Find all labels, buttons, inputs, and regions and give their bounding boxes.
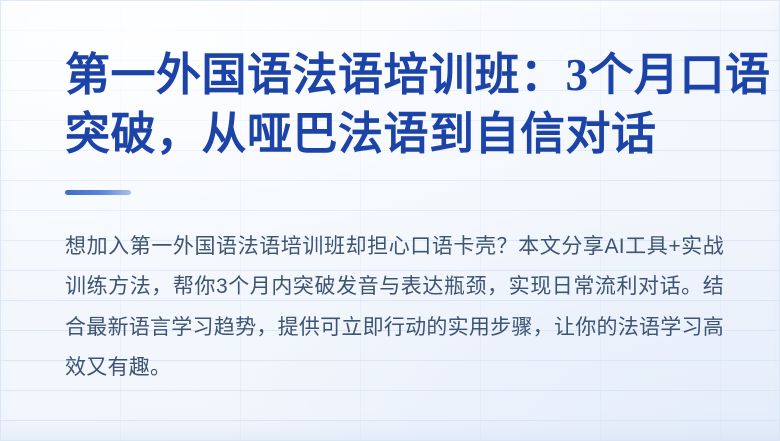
- cover-summary-text: 想加入第一外国语法语培训班却担心口语卡壳？本文分享AI工具+实战训练方法，帮你3…: [65, 227, 724, 388]
- article-cover-card: 第一外国语法语培训班：3个月口语 突破，从哑巴法语到自信对话 想加入第一外国语法…: [0, 0, 780, 441]
- page-title-line-2: 突破，从哑巴法语到自信对话: [65, 105, 724, 164]
- page-title: 第一外国语法语培训班：3个月口语 突破，从哑巴法语到自信对话: [65, 46, 724, 163]
- cover-content: 第一外国语法语培训班：3个月口语 突破，从哑巴法语到自信对话 想加入第一外国语法…: [0, 0, 780, 441]
- title-accent-divider: [65, 190, 131, 195]
- page-title-line-1: 第一外国语法语培训班：3个月口语: [65, 46, 724, 105]
